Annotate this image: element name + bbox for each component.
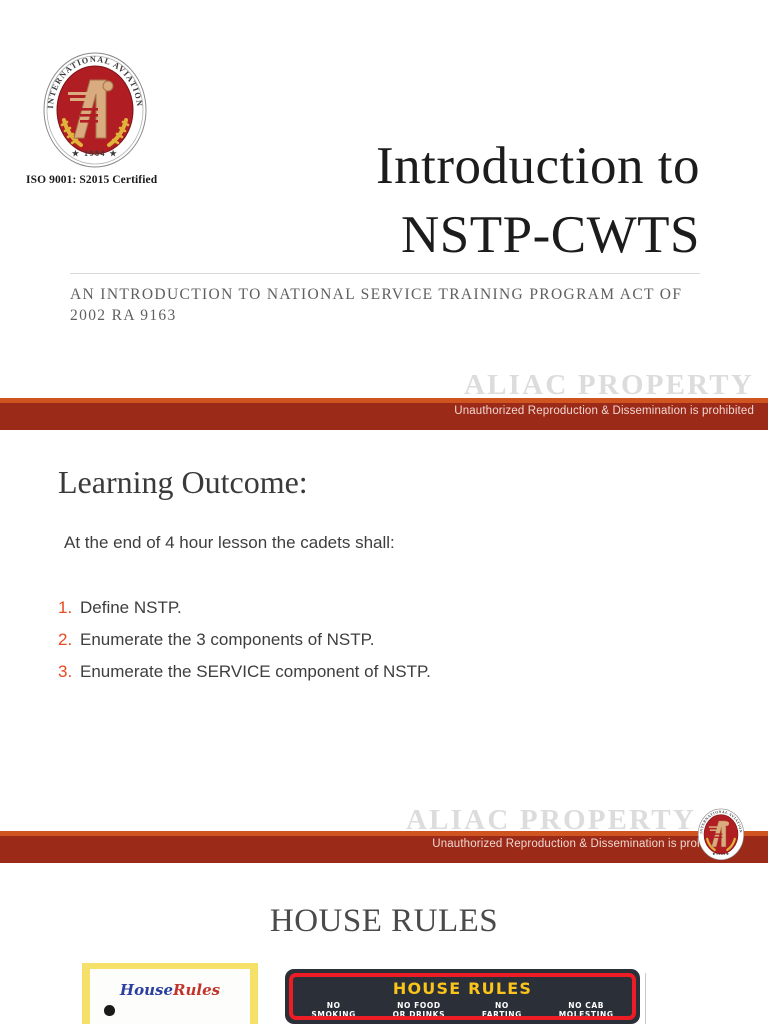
slide-learning-outcome: Learning Outcome: At the end of 4 hour l… — [0, 430, 768, 831]
page-title: Introduction to NSTP-CWTS — [120, 132, 700, 270]
svg-text:★1984★: ★1984★ — [712, 851, 730, 856]
title-line-1: Introduction to — [120, 132, 700, 201]
poster-title: HouseRules — [120, 981, 220, 999]
house-rules-heading: HOUSE RULES — [0, 903, 768, 940]
list-item: 1. Define NSTP. — [58, 598, 698, 618]
list-item: 2. Enumerate the 3 components of NSTP. — [58, 630, 698, 650]
sign-rule-item: NO FOOD OR DRINKS — [393, 1001, 445, 1019]
list-item-label: Define NSTP. — [80, 598, 182, 618]
copyright-band-bottom: Unauthorized Reproduction & Disseminatio… — [0, 831, 768, 863]
subtitle: AN INTRODUCTION TO NATIONAL SERVICE TRAI… — [70, 284, 700, 326]
list-item-number: 3. — [58, 662, 80, 682]
poster-title-word1: House — [120, 981, 173, 999]
sign-red-border: HOUSE RULES NO SMOKING NO FOOD OR DRINKS… — [289, 973, 636, 1020]
learning-outcome-heading: Learning Outcome: — [58, 464, 308, 501]
copyright-band-top: Unauthorized Reproduction & Disseminatio… — [0, 398, 768, 430]
sign-rule-item: NO SMOKING — [311, 1001, 355, 1019]
title-divider — [70, 273, 700, 274]
handwritten-house-rules-poster: HouseRules — [82, 963, 258, 1024]
poster-title-word2: Rules — [173, 981, 220, 999]
learning-outcome-lead: At the end of 4 hour lesson the cadets s… — [64, 533, 395, 553]
image-divider — [645, 973, 646, 1024]
list-item: 3. Enumerate the SERVICE component of NS… — [58, 662, 698, 682]
title-line-2: NSTP-CWTS — [120, 201, 700, 270]
list-item-label: Enumerate the SERVICE component of NSTP. — [80, 662, 431, 682]
svg-text:★ 1984 ★: ★ 1984 ★ — [72, 149, 118, 158]
band-notice-text: Unauthorized Reproduction & Disseminatio… — [454, 405, 754, 417]
presentation-page: AIR LINK INTERNATIONAL AVIATION COLLEGE … — [0, 0, 768, 1024]
sign-rule-item: NO CAB MOLESTING — [559, 1001, 614, 1019]
slide-title: AIR LINK INTERNATIONAL AVIATION COLLEGE … — [0, 0, 768, 398]
aliac-seal-logo-watermark: AIR LINK INTERNATIONAL AVIATION COLLEGE … — [692, 804, 750, 862]
house-rules-images: HouseRules HOUSE RULES NO SMOKING NO FOO… — [0, 959, 768, 1024]
sign-title: HOUSE RULES — [293, 979, 632, 998]
band-notice-text: Unauthorized Reproduction & Disseminatio… — [432, 838, 732, 850]
list-item-label: Enumerate the 3 components of NSTP. — [80, 630, 375, 650]
black-house-rules-sign: HOUSE RULES NO SMOKING NO FOOD OR DRINKS… — [285, 969, 640, 1024]
learning-outcome-list: 1. Define NSTP. 2. Enumerate the 3 compo… — [58, 598, 698, 694]
poster-doodle-icon — [104, 1005, 115, 1016]
slide-house-rules: HOUSE RULES HouseRules HOUSE RULES NO SM… — [0, 863, 768, 1024]
poster-inner: HouseRules — [90, 969, 250, 1024]
list-item-number: 1. — [58, 598, 80, 618]
list-item-number: 2. — [58, 630, 80, 650]
sign-rules-row: NO SMOKING NO FOOD OR DRINKS NO FARTING … — [293, 1001, 632, 1019]
sign-rule-item: NO FARTING — [482, 1001, 522, 1019]
